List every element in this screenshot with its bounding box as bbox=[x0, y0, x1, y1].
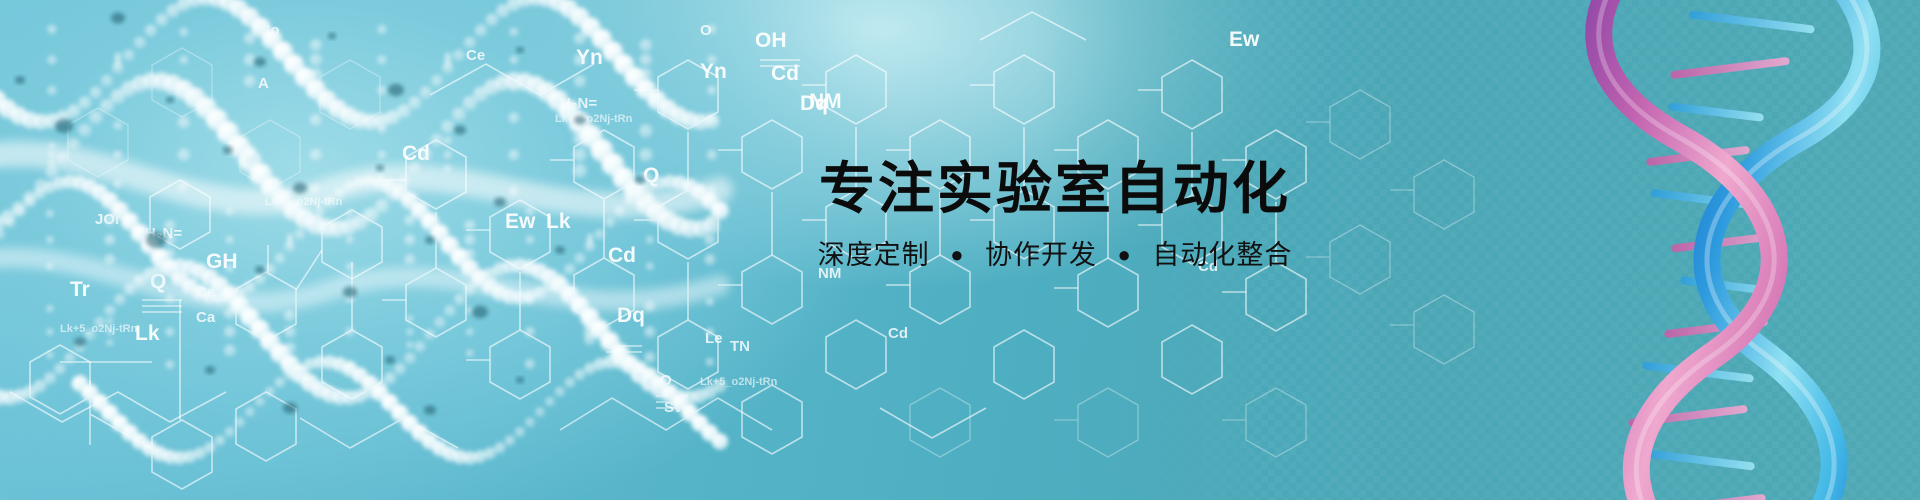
pearl-accent-dot bbox=[15, 76, 25, 84]
pearl-accent-dot bbox=[343, 287, 357, 298]
pearl-bead-rung bbox=[164, 234, 175, 245]
pearl-bead bbox=[156, 13, 169, 26]
pearl-bead-rung bbox=[510, 28, 519, 37]
pearl-bead bbox=[494, 442, 505, 453]
pearl-bead-rung bbox=[573, 148, 587, 162]
pearl-bead bbox=[5, 217, 16, 228]
pearl-bead bbox=[100, 99, 114, 113]
pearl-bead bbox=[194, 447, 206, 459]
pearl-bead-rung bbox=[310, 54, 323, 67]
pearl-bead-rung bbox=[646, 210, 654, 218]
pearl-bead-rung bbox=[466, 328, 474, 336]
pearl-bead-rung bbox=[284, 310, 296, 322]
pearl-accent-dot bbox=[454, 125, 466, 134]
pearl-bead bbox=[475, 24, 487, 36]
pearl-bead-rung bbox=[706, 358, 714, 366]
pearl-bead bbox=[420, 86, 432, 98]
pearl-bead-rung bbox=[48, 142, 56, 150]
pearl-dna-decoration bbox=[0, 0, 740, 500]
pearl-bead-rung bbox=[180, 28, 189, 37]
pearl-bead bbox=[545, 397, 555, 407]
pearl-bead bbox=[305, 217, 316, 228]
pearl-bead bbox=[255, 397, 265, 407]
pearl-bead bbox=[124, 283, 136, 295]
pearl-bead bbox=[525, 417, 535, 427]
pearl-bead-rung bbox=[105, 235, 116, 246]
pearl-bead bbox=[94, 317, 105, 328]
pearl-bead-rung bbox=[310, 184, 322, 196]
pearl-bead bbox=[57, 152, 70, 165]
pearl-bead bbox=[215, 435, 226, 446]
pearl-bead-rung bbox=[444, 52, 451, 59]
pearl-bead-rung bbox=[464, 234, 475, 245]
pearl-bead-rung bbox=[243, 145, 257, 159]
pearl-bead bbox=[90, 86, 102, 98]
pearl-accent-dot bbox=[376, 165, 384, 171]
pearl-accent-dot bbox=[425, 236, 435, 244]
pearl-bead bbox=[204, 442, 215, 453]
pearl-bead bbox=[404, 352, 416, 364]
pearl-bead bbox=[454, 294, 466, 306]
pearl-accent-dot bbox=[205, 366, 215, 374]
pearl-bead-rung bbox=[180, 56, 189, 65]
pearl-bead-rung bbox=[107, 329, 114, 336]
pearl-bead-rung bbox=[164, 220, 175, 231]
pearl-bead-rung bbox=[405, 235, 416, 246]
bullet-icon-2: ● bbox=[1114, 242, 1136, 267]
pearl-bead bbox=[441, 120, 454, 133]
pearl-bead-rung bbox=[310, 68, 323, 81]
pearl-bead bbox=[123, 49, 135, 61]
hero-copy: 专注实验室自动化 深度定制 ● 协作开发 ● 自动化整合 bbox=[745, 158, 1365, 271]
pearl-bead bbox=[67, 104, 81, 118]
pearl-bead-rung bbox=[224, 345, 236, 357]
pearl-bead-rung bbox=[346, 210, 354, 218]
pearl-bead-rung bbox=[226, 264, 235, 273]
pearl-bead-rung bbox=[508, 112, 519, 123]
hero-subtitle: 深度定制 ● 协作开发 ● 自动化整合 bbox=[745, 239, 1365, 271]
pearl-bead-rung bbox=[644, 301, 655, 312]
pearl-bead-rung bbox=[639, 124, 653, 138]
pearl-bead-rung bbox=[47, 25, 57, 35]
pearl-bead bbox=[64, 352, 76, 364]
subtitle-item-3: 自动化整合 bbox=[1152, 240, 1292, 270]
pearl-bead bbox=[565, 377, 576, 388]
pearl-bead-rung bbox=[526, 207, 535, 216]
pearl-bead-rung bbox=[707, 114, 717, 124]
pearl-bead-rung bbox=[525, 295, 535, 305]
pearl-bead bbox=[409, 96, 422, 109]
pearl-bead-rung bbox=[178, 149, 191, 162]
pearl-bead-rung bbox=[466, 350, 474, 358]
pearl-bead-rung bbox=[105, 254, 116, 265]
pearl-bead-rung bbox=[46, 351, 54, 359]
subtitle-item-1: 深度定制 bbox=[818, 240, 930, 270]
pearl-bead bbox=[284, 369, 295, 380]
pearl-bead bbox=[555, 387, 565, 397]
pearl-accent-dot bbox=[254, 57, 266, 66]
pearl-accent-dot bbox=[635, 176, 645, 184]
pearl-bead-rung bbox=[244, 54, 256, 66]
pearl-bead-rung bbox=[378, 125, 387, 134]
pearl-bead-rung bbox=[640, 68, 653, 81]
pearl-bead-rung bbox=[444, 165, 452, 173]
pearl-bead bbox=[712, 433, 729, 450]
pearl-bead bbox=[89, 111, 103, 125]
pearl-bead-rung bbox=[284, 342, 296, 354]
pearl-bead bbox=[235, 417, 245, 427]
pearl-bead-rung bbox=[47, 86, 57, 96]
pearl-bead-rung bbox=[508, 186, 519, 197]
pearl-bead bbox=[315, 206, 326, 217]
pearl-bead-rung bbox=[310, 114, 322, 126]
pearl-bead-rung bbox=[639, 148, 653, 162]
pearl-bead bbox=[375, 199, 389, 213]
pearl-bead-rung bbox=[113, 121, 122, 130]
pearl-bead bbox=[420, 148, 433, 161]
pearl-accent-dot bbox=[516, 377, 524, 383]
pearl-bead bbox=[564, 264, 575, 275]
pearl-bead-rung bbox=[706, 328, 714, 336]
pearl-bead-rung bbox=[165, 295, 174, 304]
pearl-bead bbox=[15, 206, 26, 217]
pearl-bead-rung bbox=[525, 327, 535, 337]
pearl-bead bbox=[114, 294, 126, 306]
pearl-bead-rung bbox=[378, 151, 387, 160]
pearl-bead-rung bbox=[164, 249, 175, 260]
pearl-bead-rung bbox=[113, 150, 122, 159]
pearl-bead-rung bbox=[48, 151, 56, 159]
pearl-bead-rung bbox=[464, 249, 475, 260]
pearl-bead bbox=[0, 229, 5, 240]
pearl-bead-rung bbox=[406, 342, 413, 349]
pearl-bead-rung bbox=[284, 326, 296, 338]
pearl-bead bbox=[711, 202, 729, 220]
chem-label: Cd bbox=[888, 325, 908, 342]
dna-base-pair-rung bbox=[1645, 449, 1755, 470]
hero-banner: CdCdEwEwYnYnRLkQCdDqDqNMOHLkTrQGH H₂N=H₂… bbox=[0, 0, 1920, 500]
pearl-bead bbox=[394, 363, 406, 375]
pearl-bead bbox=[104, 305, 115, 316]
pearl-bead-rung bbox=[377, 86, 387, 96]
pearl-bead-rung bbox=[508, 149, 519, 160]
pearl-bead bbox=[264, 264, 275, 275]
pearl-accent-dot bbox=[555, 246, 565, 254]
pearl-bead bbox=[430, 134, 443, 147]
dna-helix-decoration bbox=[1430, 0, 1920, 500]
pearl-bead bbox=[44, 372, 56, 384]
pearl-bead bbox=[575, 253, 586, 264]
pearl-bead bbox=[275, 253, 286, 264]
pearl-bead-rung bbox=[444, 137, 452, 145]
pearl-bead bbox=[605, 217, 616, 228]
pearl-accent-dot bbox=[111, 13, 125, 24]
pearl-bead-rung bbox=[706, 298, 714, 306]
pearl-bead bbox=[79, 96, 92, 109]
pearl-bead bbox=[225, 427, 235, 437]
pearl-accent-dot bbox=[255, 266, 265, 274]
pearl-bead bbox=[414, 341, 425, 352]
dna-base-pair-rung bbox=[1668, 102, 1764, 122]
pearl-accent-dot bbox=[74, 337, 86, 346]
pearl-bead bbox=[714, 380, 727, 393]
pearl-accent-dot bbox=[516, 47, 524, 53]
pearl-bead bbox=[84, 329, 95, 340]
pearl-bead-rung bbox=[640, 39, 653, 52]
pearl-bead bbox=[595, 229, 606, 240]
pearl-bead bbox=[384, 372, 396, 384]
pearl-bead-rung bbox=[165, 360, 174, 369]
pearl-bead-rung bbox=[406, 315, 413, 322]
pearl-accent-dot bbox=[55, 119, 73, 133]
pearl-bead-rung bbox=[47, 55, 57, 65]
pearl-bead-rung bbox=[406, 328, 413, 335]
pearl-bead-rung bbox=[644, 352, 655, 363]
pearl-bead bbox=[505, 435, 516, 446]
pearl-bead bbox=[444, 305, 455, 316]
pearl-bead bbox=[275, 377, 286, 388]
pearl-accent-dot bbox=[494, 197, 506, 206]
pearl-dna-svg bbox=[0, 0, 740, 500]
pearl-bead-rung bbox=[310, 39, 323, 52]
chem-label: Cd bbox=[771, 62, 799, 85]
pearl-bead-rung bbox=[573, 164, 587, 178]
bullet-icon-1: ● bbox=[946, 242, 968, 267]
pearl-bead-rung bbox=[526, 236, 535, 245]
pearl-bead-rung bbox=[114, 52, 121, 59]
pearl-bead bbox=[145, 24, 157, 36]
dna-base-pair-rung bbox=[1662, 494, 1766, 500]
pearl-bead-rung bbox=[574, 54, 586, 66]
pearl-bead-rung bbox=[113, 180, 122, 189]
pearl-bead-rung bbox=[287, 233, 294, 240]
pearl-bead bbox=[397, 104, 411, 118]
pearl-bead-rung bbox=[244, 75, 256, 87]
pearl-bead-rung bbox=[707, 86, 717, 96]
pearl-bead-rung bbox=[310, 149, 322, 161]
pearl-bead-rung bbox=[707, 25, 717, 35]
pearl-bead-rung bbox=[587, 233, 594, 240]
pearl-bead bbox=[515, 427, 525, 437]
pearl-bead bbox=[54, 363, 66, 375]
dna-base-pair-rung bbox=[1670, 57, 1790, 80]
chem-label: Ew bbox=[1229, 28, 1260, 51]
pearl-bead-rung bbox=[46, 236, 54, 244]
pearl-bead-rung bbox=[646, 262, 654, 270]
pearl-bead-rung bbox=[464, 220, 475, 231]
pearl-bead bbox=[615, 206, 626, 217]
pearl-bead-rung bbox=[444, 151, 452, 159]
pearl-bead-rung bbox=[226, 207, 235, 216]
pearl-bead-rung bbox=[640, 54, 653, 67]
pearl-accent-dot bbox=[385, 356, 395, 364]
pearl-bead bbox=[244, 281, 256, 293]
pearl-bead-rung bbox=[224, 326, 236, 338]
pearl-bead-rung bbox=[178, 181, 191, 194]
pearl-accent-dot bbox=[574, 115, 586, 124]
pearl-bead bbox=[574, 369, 585, 380]
pearl-bead bbox=[134, 37, 146, 49]
pearl-bead bbox=[484, 447, 496, 459]
pearl-bead bbox=[68, 138, 81, 151]
pearl-bead-rung bbox=[226, 236, 235, 245]
pearl-bead-rung bbox=[345, 327, 354, 336]
pearl-accent-dot bbox=[166, 97, 174, 103]
pearl-bead-rung bbox=[377, 55, 387, 65]
pearl-bead-rung bbox=[46, 305, 54, 313]
pearl-bead bbox=[24, 196, 36, 208]
pearl-accent-dot bbox=[388, 84, 404, 96]
pearl-bead bbox=[295, 229, 306, 240]
pearl-bead bbox=[434, 317, 445, 328]
pearl-bead bbox=[486, 13, 499, 26]
pearl-bead bbox=[424, 329, 435, 340]
pearl-accent-dot bbox=[472, 306, 488, 318]
page-title: 专注实验室自动化 bbox=[745, 158, 1365, 221]
pearl-bead-rung bbox=[48, 160, 56, 168]
pearl-bead-rung bbox=[525, 359, 535, 369]
pearl-bead-rung bbox=[705, 254, 716, 265]
pearl-bead bbox=[464, 37, 476, 49]
pearl-bead-rung bbox=[644, 326, 655, 337]
chem-label: NM bbox=[809, 90, 842, 113]
pearl-bead-rung bbox=[705, 235, 716, 246]
pearl-bead bbox=[245, 407, 255, 417]
pearl-bead-rung bbox=[377, 25, 387, 35]
pearl-bead-rung bbox=[346, 236, 354, 244]
pearl-bead-rung bbox=[107, 318, 114, 325]
pearl-bead bbox=[624, 196, 636, 208]
pearl-bead bbox=[453, 49, 465, 61]
pearl-bead bbox=[34, 380, 47, 393]
subtitle-item-2: 协作开发 bbox=[985, 240, 1097, 270]
pearl-bead-rung bbox=[405, 254, 416, 265]
pearl-bead-rung bbox=[346, 262, 354, 270]
pearl-bead-rung bbox=[707, 150, 717, 160]
pearl-accent-dot bbox=[424, 405, 436, 414]
dna-base-pair-rung bbox=[1689, 10, 1815, 33]
pearl-accent-dot bbox=[293, 183, 307, 194]
pearl-bead-rung bbox=[574, 75, 586, 87]
pearl-bead bbox=[464, 283, 476, 295]
pearl-bead bbox=[78, 124, 91, 137]
dna-helix-svg bbox=[1430, 0, 1920, 500]
pearl-accent-dot bbox=[146, 232, 166, 248]
chem-label: OH bbox=[755, 29, 787, 52]
pearl-accent-dot bbox=[328, 33, 336, 39]
pearl-bead bbox=[535, 407, 545, 417]
pearl-accent-dot bbox=[223, 146, 233, 154]
pearl-bead-rung bbox=[510, 56, 519, 65]
pearl-bead-rung bbox=[707, 55, 717, 65]
pearl-bead-rung bbox=[46, 328, 54, 336]
pearl-bead-rung bbox=[165, 327, 174, 336]
pearl-bead-rung bbox=[46, 210, 54, 218]
pearl-bead-rung bbox=[46, 262, 54, 270]
pearl-bead bbox=[101, 75, 113, 87]
pearl-bead-rung bbox=[107, 339, 114, 346]
pearl-bead bbox=[324, 196, 336, 208]
pearl-bead-rung bbox=[178, 116, 191, 129]
pearl-bead bbox=[431, 75, 443, 87]
pearl-bead bbox=[408, 162, 421, 175]
pearl-bead bbox=[254, 273, 266, 285]
pearl-bead bbox=[265, 387, 275, 397]
pearl-bead-rung bbox=[646, 236, 654, 244]
pearl-accent-dot bbox=[283, 403, 297, 414]
pearl-bead bbox=[452, 107, 466, 121]
